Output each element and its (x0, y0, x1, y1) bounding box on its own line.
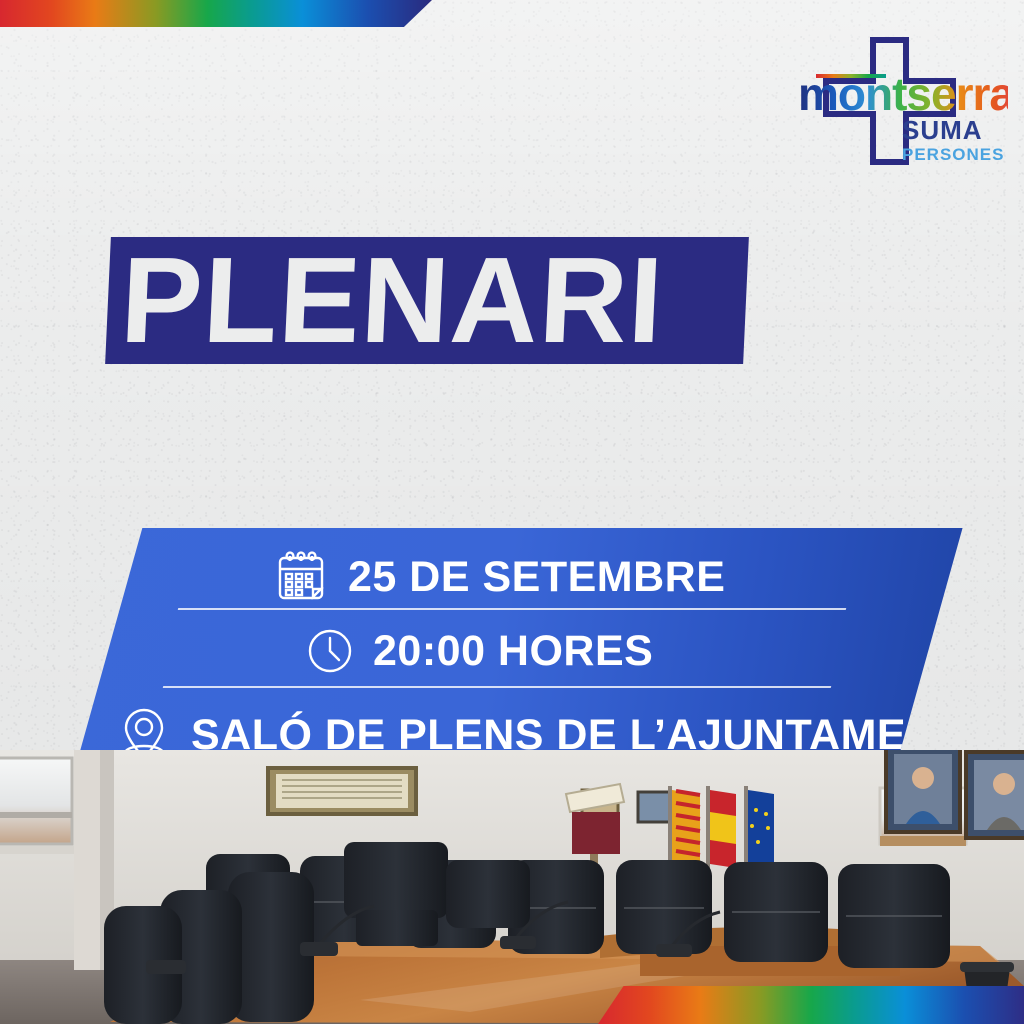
council-chamber-photo (0, 750, 1024, 1024)
detail-divider-1 (178, 608, 847, 610)
montserrat-logo: montserrat SUMA PERSONES (778, 26, 1008, 176)
detail-date-label: 25 DE SETEMBRE (348, 553, 725, 601)
logo-wordmark: montserrat (798, 68, 1008, 120)
rainbow-bar-top (0, 0, 432, 27)
poster-canvas: montserrat SUMA PERSONES PLENARI ORDINAR… (0, 0, 1024, 1024)
detail-row-time: 20:00 HORES (305, 626, 653, 676)
headline-line-1: PLENARI (118, 230, 764, 370)
detail-row-date: 25 DE SETEMBRE (272, 548, 725, 606)
logo-suma: SUMA (902, 115, 983, 145)
rainbow-bar-bottom (598, 986, 1024, 1024)
logo-persones: PERSONES (902, 145, 1004, 164)
detail-time-label: 20:00 HORES (373, 627, 653, 675)
calendar-icon (272, 548, 330, 606)
clock-icon (305, 626, 355, 676)
detail-divider-2 (163, 686, 832, 688)
headline-block: PLENARI ORDINARI (0, 214, 1024, 366)
